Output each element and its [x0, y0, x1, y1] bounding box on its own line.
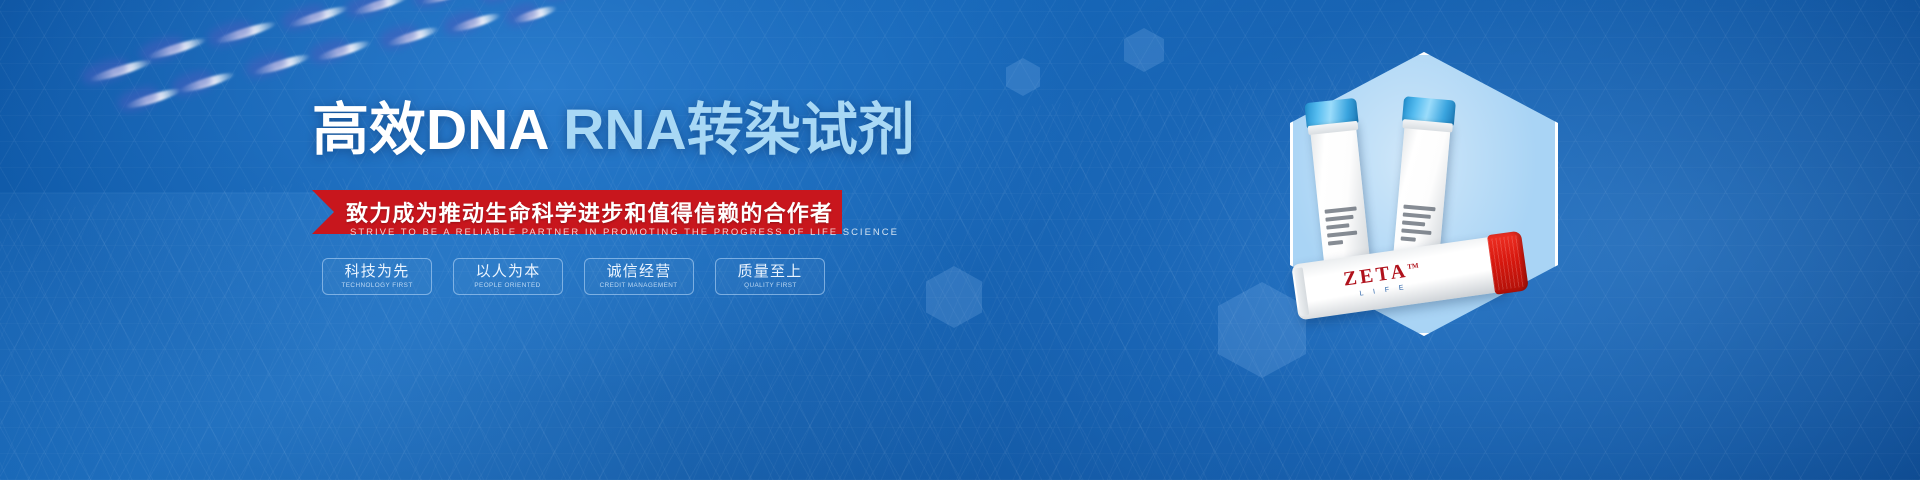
product-brand-block: ZETATM L I F E: [1293, 252, 1471, 306]
vial-label-text: [1325, 206, 1364, 245]
promo-banner: 高效DNA RNA转染试剂 致力成为推动生命科学进步和值得信赖的合作者 STRI…: [0, 0, 1920, 480]
slogan-english-text: STRIVE TO BE A RELIABLE PARTNER IN PROMO…: [350, 227, 850, 238]
feature-badge-people-oriented[interactable]: 以人为本 PEOPLE ORIENTED: [453, 258, 563, 295]
feature-badge-label-en: QUALITY FIRST: [744, 283, 797, 290]
banner-title: 高效DNA RNA转染试剂: [312, 102, 915, 159]
banner-title-part-cyan: RNA转染试剂: [563, 98, 915, 162]
product-image-stage: ZETATM L I F E: [1000, 0, 1920, 480]
feature-badge-label-cn: 科技为先: [345, 264, 410, 280]
slogan-ribbon-text: 致力成为推动生命科学进步和值得信赖的合作者: [346, 196, 833, 228]
feature-badge-list: 科技为先 TECHNOLOGY FIRST 以人为本 PEOPLE ORIENT…: [322, 258, 825, 295]
feature-badge-technology-first[interactable]: 科技为先 TECHNOLOGY FIRST: [322, 258, 432, 295]
banner-title-part-white: 高效DNA: [312, 98, 563, 162]
banner-content: 高效DNA RNA转染试剂 致力成为推动生命科学进步和值得信赖的合作者 STRI…: [0, 0, 1000, 480]
feature-badge-label-cn: 质量至上: [738, 264, 803, 280]
feature-badge-label-en: PEOPLE ORIENTED: [475, 283, 541, 290]
feature-badge-label-en: TECHNOLOGY FIRST: [341, 283, 412, 290]
vial-cap-red-icon: [1487, 231, 1529, 295]
product-vial-group: ZETATM L I F E: [1300, 78, 1560, 328]
feature-badge-label-en: CREDIT MANAGEMENT: [600, 283, 678, 290]
trademark-icon: TM: [1407, 262, 1419, 271]
feature-badge-quality-first[interactable]: 质量至上 QUALITY FIRST: [715, 258, 825, 295]
feature-badge-credit-management[interactable]: 诚信经营 CREDIT MANAGEMENT: [584, 258, 694, 295]
feature-badge-label-cn: 以人为本: [476, 264, 541, 280]
feature-badge-label-cn: 诚信经营: [607, 264, 672, 280]
vial-label-text: [1401, 205, 1439, 244]
